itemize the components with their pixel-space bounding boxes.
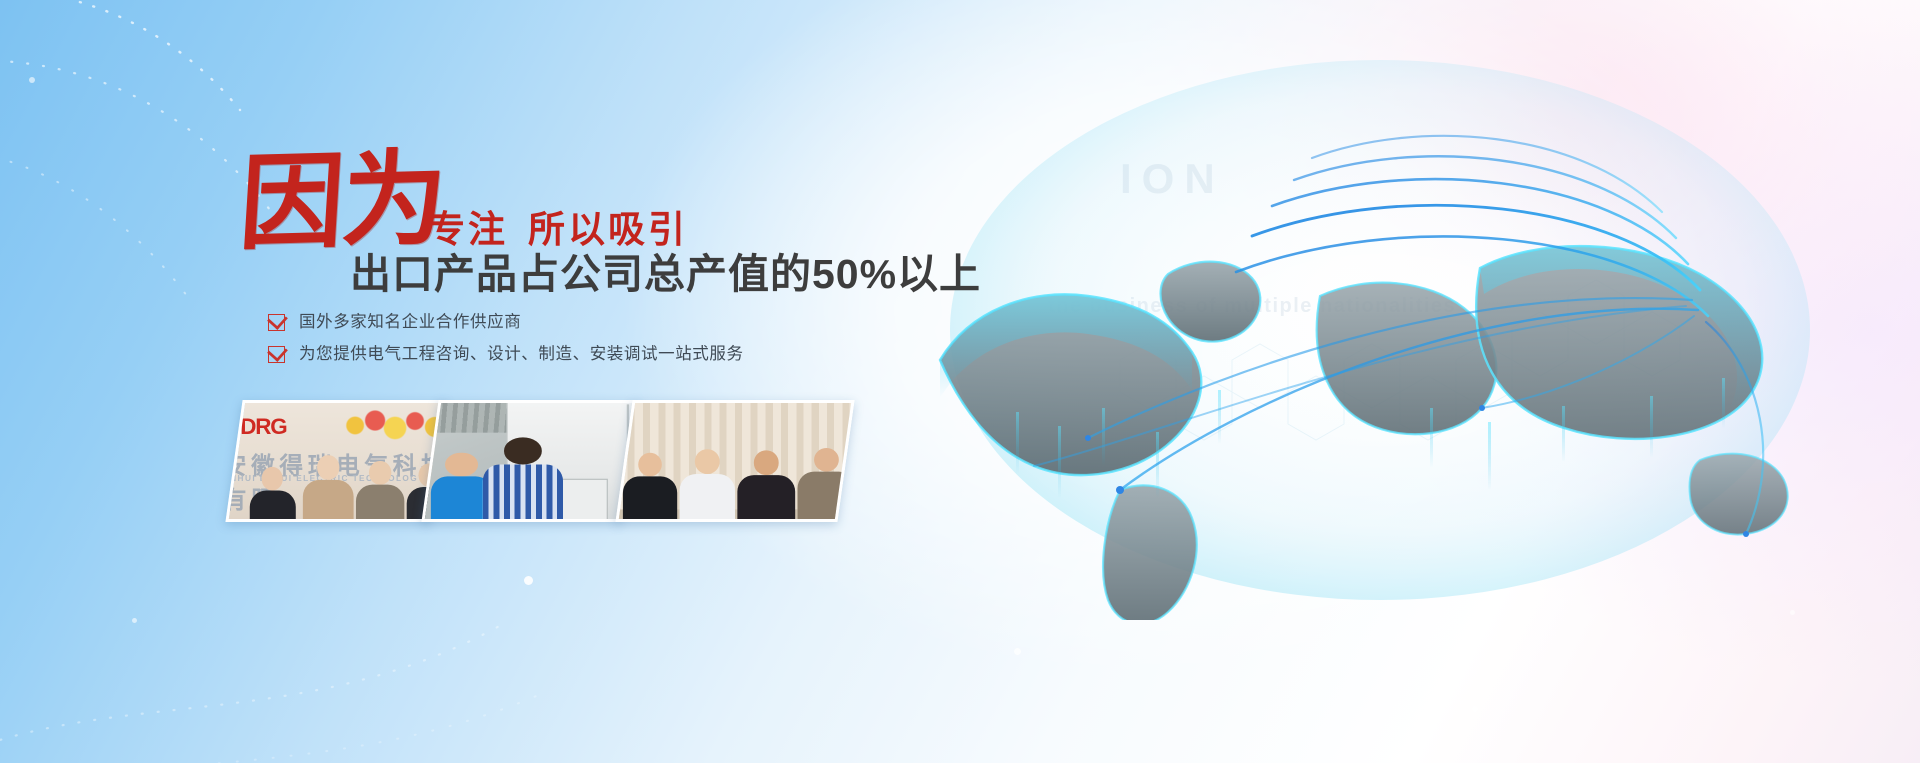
list-item: 国外多家知名企业合作供应商 xyxy=(268,313,744,333)
photo-group-backdrop: HDRG 安徽得瑞电气科技有限 ANHUI DERUI ELECTRIC TEC… xyxy=(225,400,447,522)
globe-watermark-small: the business of multiple nationalities xyxy=(1048,295,1456,318)
backdrop-logo-text: HDRG xyxy=(225,415,286,441)
dotted-arc-decoration-bottom xyxy=(0,500,750,763)
subtitle-text: 出口产品占公司总产值的50%以上 xyxy=(350,240,981,300)
bullet-label: 为您提供电气工程咨询、设计、制造、安装调试一站式服务 xyxy=(299,345,744,365)
bullet-label: 国外多家知名企业合作供应商 xyxy=(299,313,521,333)
photo-strip: HDRG 安徽得瑞电气科技有限 ANHUI DERUI ELECTRIC TEC… xyxy=(228,400,848,530)
headline-block: 因为 专注所以吸引 出口产品占公司总产值的50%以上 xyxy=(232,155,932,273)
feature-bullet-list: 国外多家知名企业合作供应商 为您提供电气工程咨询、设计、制造、安装调试一站式服务 xyxy=(268,313,744,377)
promo-banner: ION the business of multiple nationaliti… xyxy=(0,0,1920,763)
globe-watermark-large: ION xyxy=(1120,155,1225,203)
photo-team-outdoor xyxy=(615,400,854,522)
world-globe-graphic: ION the business of multiple nationaliti… xyxy=(820,60,1920,620)
sparkle-dots xyxy=(0,0,1920,763)
photo-technicians-cabinet xyxy=(421,400,638,522)
checkbox-checked-icon xyxy=(268,346,285,363)
list-item: 为您提供电气工程咨询、设计、制造、安装调试一站式服务 xyxy=(268,345,744,365)
checkbox-checked-icon xyxy=(268,314,285,331)
